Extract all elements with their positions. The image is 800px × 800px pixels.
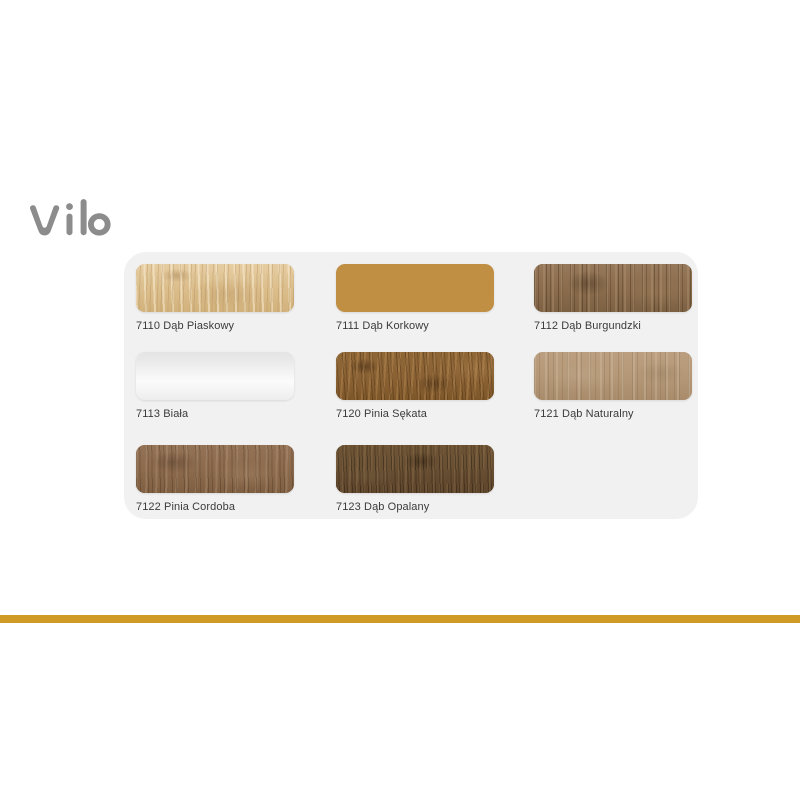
- swatch-cell[interactable]: 7122 Pinia Cordoba: [136, 445, 294, 514]
- wood-grain-texture: [136, 264, 294, 312]
- swatch-label: 7110 Dąb Piaskowy: [136, 320, 294, 333]
- swatch-7111[interactable]: [336, 264, 494, 312]
- swatch-7121[interactable]: [534, 352, 692, 400]
- wood-grain-texture: [336, 352, 494, 400]
- swatch-7122[interactable]: [136, 445, 294, 493]
- gold-accent-bar: [0, 615, 800, 623]
- swatch-label: 7121 Dąb Naturalny: [534, 408, 692, 421]
- swatch-7110[interactable]: [136, 264, 294, 312]
- swatch-cell[interactable]: 7113 Biała: [136, 352, 294, 421]
- wood-grain-texture: [136, 445, 294, 493]
- swatch-label: 7122 Pinia Cordoba: [136, 501, 294, 514]
- solid-white-texture: [136, 352, 294, 400]
- decor-panel: 7110 Dąb Piaskowy 7111 Dąb Korkowy 7112 …: [124, 252, 698, 519]
- vilo-logo: [26, 196, 136, 246]
- swatch-7113[interactable]: [136, 352, 294, 400]
- swatch-label: 7123 Dąb Opalany: [336, 501, 494, 514]
- page-root: 7110 Dąb Piaskowy 7111 Dąb Korkowy 7112 …: [0, 0, 800, 800]
- swatch-7112[interactable]: [534, 264, 692, 312]
- swatch-7123[interactable]: [336, 445, 494, 493]
- swatch-label: 7111 Dąb Korkowy: [336, 320, 494, 333]
- swatch-cell[interactable]: 7110 Dąb Piaskowy: [136, 264, 294, 333]
- swatch-label: 7120 Pinia Sękata: [336, 408, 494, 421]
- wood-grain-texture: [336, 445, 494, 493]
- wood-grain-texture: [534, 264, 692, 312]
- swatch-grid: 7110 Dąb Piaskowy 7111 Dąb Korkowy 7112 …: [124, 252, 698, 519]
- swatch-label: 7113 Biała: [136, 408, 294, 421]
- swatch-label: 7112 Dąb Burgundzki: [534, 320, 692, 333]
- wood-grain-texture: [534, 352, 692, 400]
- swatch-cell[interactable]: 7112 Dąb Burgundzki: [534, 264, 692, 333]
- swatch-cell[interactable]: 7120 Pinia Sękata: [336, 352, 494, 421]
- swatch-cell[interactable]: 7121 Dąb Naturalny: [534, 352, 692, 421]
- swatch-7120[interactable]: [336, 352, 494, 400]
- swatch-cell[interactable]: 7123 Dąb Opalany: [336, 445, 494, 514]
- wood-grain-texture: [336, 264, 494, 312]
- swatch-cell[interactable]: 7111 Dąb Korkowy: [336, 264, 494, 333]
